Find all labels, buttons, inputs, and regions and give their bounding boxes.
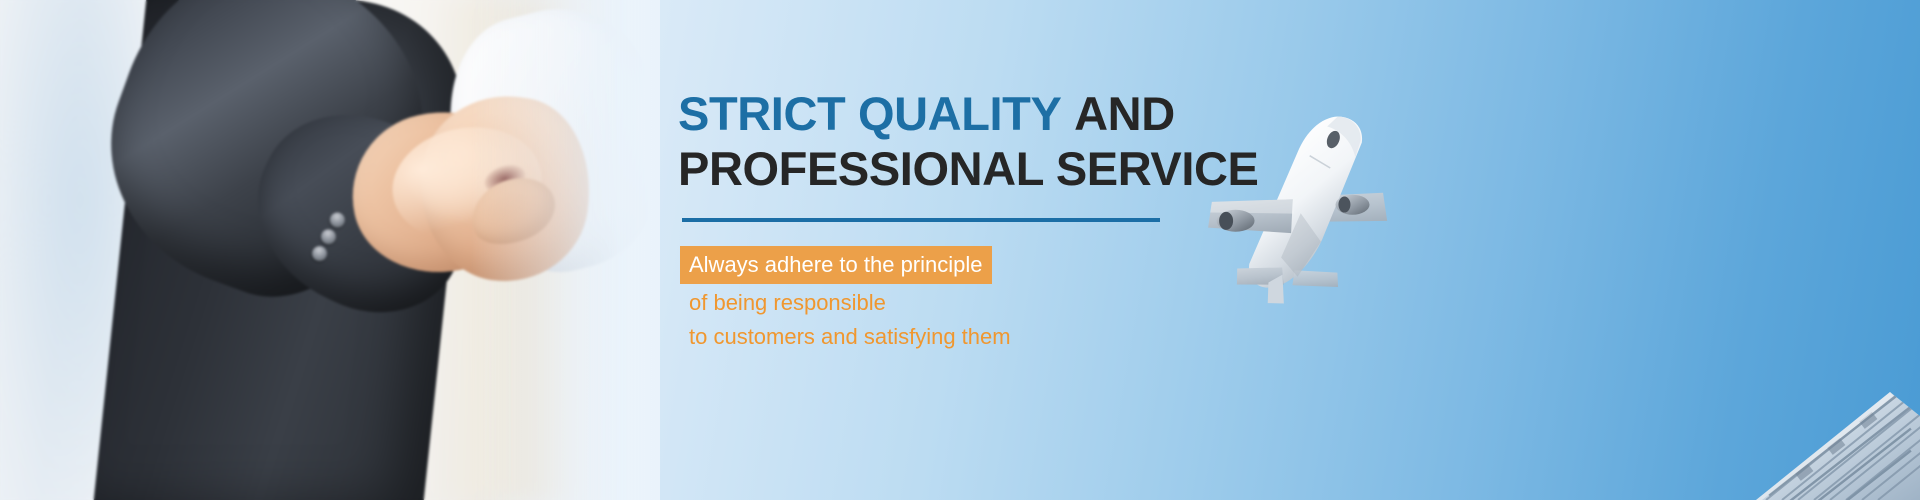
headline-divider [682,218,1160,222]
headline-and: AND [1074,87,1175,140]
subtitle-line-3: to customers and satisfying them [678,321,1378,352]
subtitle-line-1-wrap: Always adhere to the principle [678,246,1378,284]
subtitle-line-1: Always adhere to the principle [680,246,992,284]
banner-content: STRICT QUALITY AND PROFESSIONAL SERVICE … [678,86,1378,352]
headline-strict-quality: STRICT QUALITY [678,87,1061,140]
photo-edge-fade [470,0,660,500]
handshake-photo [0,0,660,500]
headline-line-2: PROFESSIONAL SERVICE [678,141,1378,196]
subtitle-line-2: of being responsible [678,287,1378,318]
promo-banner: STRICT QUALITY AND PROFESSIONAL SERVICE … [0,0,1920,500]
headline-line-1: STRICT QUALITY AND [678,86,1378,141]
glass-office-building [1560,320,1920,500]
subtitle-block: Always adhere to the principle of being … [678,246,1378,352]
